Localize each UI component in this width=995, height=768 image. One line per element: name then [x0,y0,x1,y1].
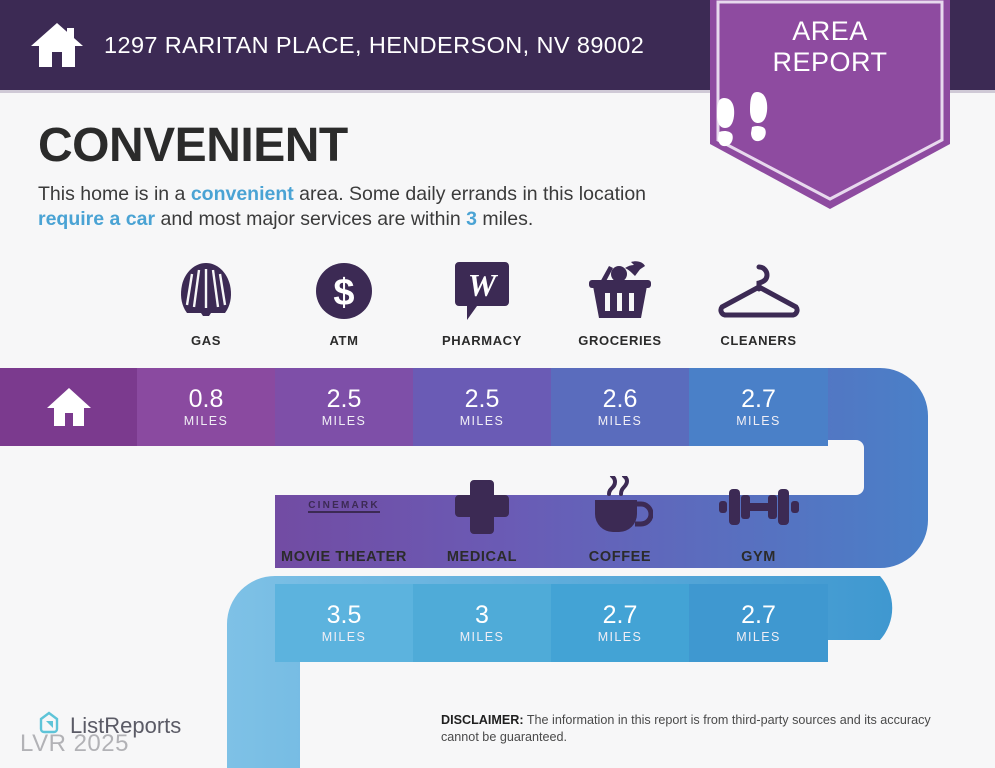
amenity-medical: MEDICAL [413,474,551,565]
footprints-icon [710,90,950,152]
amenity-icon-row-1: GAS $ ATM W PHARMACY [137,258,828,348]
distance-cell-groceries: 2.6 MILES [551,368,689,446]
distance-value: 2.5 [327,386,362,413]
badge-title: AREA REPORT [710,16,950,78]
distance-unit: MILES [184,414,229,428]
distance-unit: MILES [736,630,781,644]
svg-text:CINEMARK: CINEMARK [308,500,380,511]
page-subtitle: This home is in a convenient area. Some … [38,182,698,232]
distance-value: 2.7 [741,386,776,413]
watermark: LVR 2025 [20,730,129,758]
distance-cell-cleaners: 2.7 MILES [689,368,828,446]
amenity-gym: GYM [689,474,828,565]
property-address: 1297 RARITAN PLACE, HENDERSON, NV 89002 [104,32,644,59]
disclaimer-label: DISCLAIMER: [441,713,524,727]
distance-cell-medical: 3 MILES [413,584,551,662]
amenity-movie-theater: CINEMARK MOVIE THEATER [275,474,413,565]
medical-cross-icon [453,474,511,540]
amenity-label: GROCERIES [578,333,661,348]
subtitle-highlight-2: require a car [38,208,155,230]
amenity-icon-row-2: CINEMARK MOVIE THEATER MEDICAL [275,474,828,565]
distance-value: 2.6 [603,386,638,413]
amenity-label: MEDICAL [447,549,517,565]
distance-cell-atm: 2.5 MILES [275,368,413,446]
amenity-label: COFFEE [589,549,651,565]
distance-cell-gym: 2.7 MILES [689,584,828,662]
distance-value: 3.5 [327,602,362,629]
distance-unit: MILES [598,630,643,644]
subtitle-highlight-1: convenient [191,183,294,205]
area-report-page: 1297 RARITAN PLACE, HENDERSON, NV 89002 … [0,0,995,768]
distance-value: 0.8 [189,386,224,413]
distance-cell-coffee: 2.7 MILES [551,584,689,662]
distance-value: 2.7 [741,602,776,629]
distance-cell-gas: 0.8 MILES [137,368,275,446]
amenity-pharmacy: W PHARMACY [413,258,551,348]
home-marker-cell [0,368,137,446]
subtitle-part-2: area. Some daily errands in this locatio… [294,183,646,205]
distance-unit: MILES [598,414,643,428]
distance-cell-movie-theater: 3.5 MILES [275,584,413,662]
dumbbell-icon [715,474,803,540]
amenity-gas: GAS [137,258,275,348]
distance-bar-row-2: 3.5 MILES 3 MILES 2.7 MILES 2.7 MILES [275,584,828,662]
amenity-label: ATM [330,333,359,348]
walgreens-w-icon: W [453,258,511,324]
subtitle-part-1: This home is in a [38,183,191,205]
svg-text:$: $ [333,272,354,314]
badge-line-1: AREA [710,16,950,47]
page-title: CONVENIENT [38,118,348,173]
amenity-label: CLEANERS [720,333,796,348]
subtitle-part-3: and most major services are within [155,208,466,230]
amenity-coffee: COFFEE [551,474,689,565]
distance-unit: MILES [322,414,367,428]
coffee-cup-icon [587,474,653,540]
distance-unit: MILES [460,414,505,428]
amenity-cleaners: CLEANERS [689,258,828,348]
distance-unit: MILES [322,630,367,644]
amenity-groceries: GROCERIES [551,258,689,348]
distance-value: 2.5 [465,386,500,413]
amenity-label: PHARMACY [442,333,522,348]
svg-text:W: W [468,267,499,303]
cinemark-logo-icon: CINEMARK [298,474,390,540]
shell-gas-icon [175,258,237,324]
amenity-label: MOVIE THEATER [281,549,407,565]
amenity-label: GYM [741,549,776,565]
dollar-circle-icon: $ [314,258,374,324]
distance-bar-row-1: 0.8 MILES 2.5 MILES 2.5 MILES 2.6 MILES … [0,368,828,446]
subtitle-part-4: miles. [477,208,533,230]
badge-line-2: REPORT [710,47,950,78]
amenity-atm: $ ATM [275,258,413,348]
disclaimer: DISCLAIMER: The information in this repo… [441,712,961,746]
home-icon [28,19,86,71]
distance-unit: MILES [736,414,781,428]
area-report-badge: AREA REPORT [710,0,950,209]
hanger-icon [716,258,802,324]
distance-unit: MILES [460,630,505,644]
basket-icon [585,258,655,324]
distance-value: 2.7 [603,602,638,629]
distance-value: 3 [475,602,489,629]
amenity-label: GAS [191,333,221,348]
distance-cell-pharmacy: 2.5 MILES [413,368,551,446]
subtitle-highlight-3: 3 [466,208,477,230]
